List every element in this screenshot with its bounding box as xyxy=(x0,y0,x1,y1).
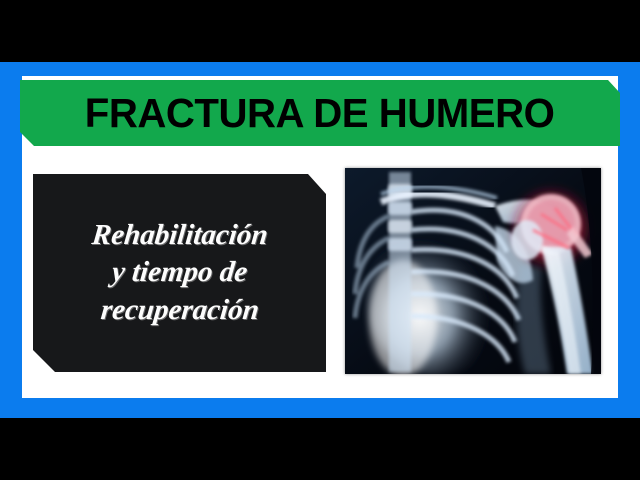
letterbox-bar-bottom xyxy=(0,418,640,480)
subtitle-box: Rehabilitación y tiempo de recuperación xyxy=(33,174,326,372)
title-banner: FRACTURA DE HUMERO xyxy=(20,80,620,146)
letterbox-bar-top xyxy=(0,0,640,62)
subtitle-line-2: y tiempo de xyxy=(110,254,249,291)
subtitle-line-3: recuperación xyxy=(99,292,261,329)
slide-canvas: FRACTURA DE HUMERO Rehabilitación y tiem… xyxy=(0,0,640,480)
subtitle-line-1: Rehabilitación xyxy=(90,217,270,254)
xray-image xyxy=(345,168,601,374)
xray-radiograph-graphic xyxy=(345,168,601,374)
page-title: FRACTURA DE HUMERO xyxy=(85,93,555,134)
